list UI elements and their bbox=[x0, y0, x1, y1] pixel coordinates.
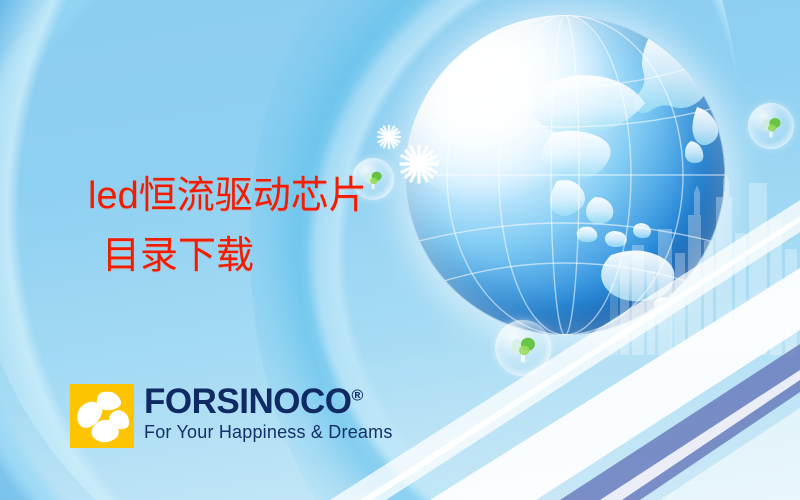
four-petal-pinwheel-icon bbox=[70, 384, 134, 448]
registered-trademark-icon: ® bbox=[351, 387, 363, 404]
logo-tagline: For Your Happiness & Dreams bbox=[144, 423, 393, 441]
page-title: led恒流驱动芯片 目录下载 bbox=[88, 166, 508, 286]
company-logo[interactable]: FORSINOCO® For Your Happiness & Dreams bbox=[70, 384, 393, 448]
headline-line-1: led恒流驱动芯片 bbox=[88, 175, 367, 217]
promo-banner: led恒流驱动芯片 目录下载 FORSINOCO® For Your Happi… bbox=[0, 0, 800, 500]
headline-line-2: 目录下载 bbox=[102, 226, 508, 286]
logo-wordmark: FORSINOCO® bbox=[144, 384, 393, 419]
logo-name-text: FORSINOCO bbox=[144, 382, 351, 421]
